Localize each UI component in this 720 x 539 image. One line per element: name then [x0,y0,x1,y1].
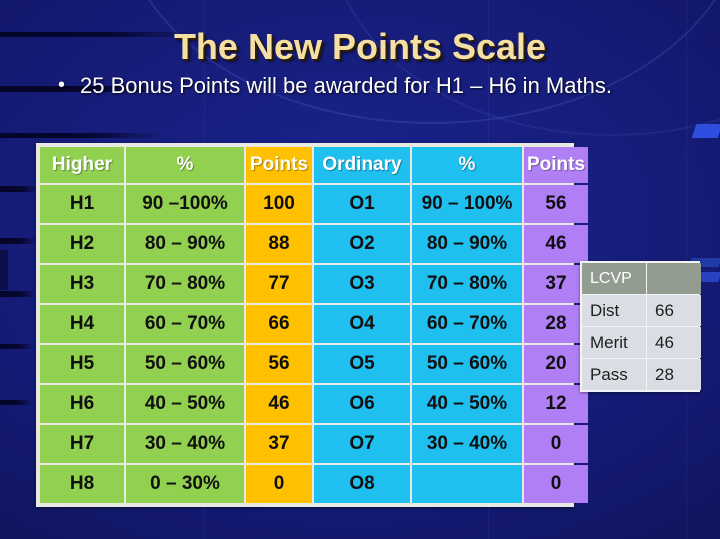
cell-higher-points: 66 [246,305,312,343]
col-header-higher-percent: % [126,147,244,183]
table-header-row: Higher % Points Ordinary % Points [40,147,588,183]
cell-higher-points: 77 [246,265,312,303]
lcvp-cell-label: Dist [582,295,646,326]
table-row: H6 40 – 50% 46 O6 40 – 50% 12 [40,385,588,423]
cell-higher-percent: 80 – 90% [126,225,244,263]
table-row: Dist 66 [582,295,701,326]
cell-ordinary-points: 20 [524,345,588,383]
lcvp-grid: LCVP Dist 66 Merit 46 Pass 28 [581,262,702,391]
cell-higher-grade: H3 [40,265,124,303]
lcvp-table: LCVP Dist 66 Merit 46 Pass 28 [580,261,700,392]
lcvp-cell-points: 28 [647,359,701,390]
cell-ordinary-percent: 50 – 60% [412,345,522,383]
cell-ordinary-percent: 90 – 100% [412,185,522,223]
cell-ordinary-points: 28 [524,305,588,343]
bullet-text: 25 Bonus Points will be awarded for H1 –… [80,71,678,100]
cell-ordinary-points: 37 [524,265,588,303]
cell-ordinary-grade: O6 [314,385,410,423]
cell-ordinary-percent: 60 – 70% [412,305,522,343]
slide-canvas: The New Points Scale • 25 Bonus Points w… [0,0,720,539]
cell-ordinary-points: 0 [524,465,588,503]
cell-ordinary-points: 56 [524,185,588,223]
cell-higher-points: 37 [246,425,312,463]
cell-ordinary-grade: O4 [314,305,410,343]
cell-higher-grade: H7 [40,425,124,463]
cell-higher-points: 88 [246,225,312,263]
cell-higher-percent: 90 –100% [126,185,244,223]
cell-higher-grade: H1 [40,185,124,223]
cell-ordinary-grade: O3 [314,265,410,303]
cell-ordinary-grade: O2 [314,225,410,263]
cell-higher-grade: H2 [40,225,124,263]
cell-ordinary-points: 0 [524,425,588,463]
cell-higher-percent: 30 – 40% [126,425,244,463]
cell-higher-points: 100 [246,185,312,223]
table-row: Pass 28 [582,359,701,390]
table-row: Merit 46 [582,327,701,358]
cell-higher-percent: 50 – 60% [126,345,244,383]
cell-ordinary-percent: 40 – 50% [412,385,522,423]
table-row: H4 60 – 70% 66 O4 60 – 70% 28 [40,305,588,343]
cell-ordinary-points: 46 [524,225,588,263]
decorative-streak [0,186,40,192]
lcvp-col-header-title: LCVP [582,263,646,294]
table-row: H8 0 – 30% 0 O8 0 [40,465,588,503]
lcvp-cell-label: Merit [582,327,646,358]
cell-ordinary-percent: 70 – 80% [412,265,522,303]
decorative-streak [0,291,36,297]
points-table: Higher % Points Ordinary % Points H1 90 … [36,143,574,507]
cell-higher-points: 46 [246,385,312,423]
decorative-streak [0,133,162,138]
cell-higher-grade: H8 [40,465,124,503]
cell-higher-grade: H6 [40,385,124,423]
bullet-list: • 25 Bonus Points will be awarded for H1… [58,71,678,100]
decorative-arc [330,0,720,136]
col-header-higher-points: Points [246,147,312,183]
bullet-dot-icon: • [58,71,80,100]
lcvp-cell-points: 46 [647,327,701,358]
cell-ordinary-points: 12 [524,385,588,423]
col-header-higher: Higher [40,147,124,183]
col-header-ordinary-percent: % [412,147,522,183]
lcvp-col-header-blank [647,263,701,294]
decorative-streak [0,400,32,405]
decorative-streak [0,344,34,349]
cell-higher-points: 0 [246,465,312,503]
col-header-ordinary-points: Points [524,147,588,183]
decorative-streak [0,238,38,244]
table-row: H5 50 – 60% 56 O5 50 – 60% 20 [40,345,588,383]
cell-ordinary-grade: O7 [314,425,410,463]
col-header-ordinary: Ordinary [314,147,410,183]
cell-ordinary-grade: O1 [314,185,410,223]
table-row: H1 90 –100% 100 O1 90 – 100% 56 [40,185,588,223]
lcvp-grid-body: Dist 66 Merit 46 Pass 28 [582,295,701,390]
cell-ordinary-grade: O5 [314,345,410,383]
cell-higher-points: 56 [246,345,312,383]
cell-higher-percent: 0 – 30% [126,465,244,503]
cell-ordinary-percent [412,465,522,503]
lcvp-cell-points: 66 [647,295,701,326]
cell-higher-percent: 60 – 70% [126,305,244,343]
table-row: H3 70 – 80% 77 O3 70 – 80% 37 [40,265,588,303]
points-grid-body: H1 90 –100% 100 O1 90 – 100% 56 H2 80 – … [40,185,588,503]
cell-higher-grade: H5 [40,345,124,383]
table-row: H7 30 – 40% 37 O7 30 – 40% 0 [40,425,588,463]
slide-title: The New Points Scale [0,26,720,68]
table-row: H2 80 – 90% 88 O2 80 – 90% 46 [40,225,588,263]
cell-ordinary-percent: 30 – 40% [412,425,522,463]
points-grid: Higher % Points Ordinary % Points H1 90 … [38,145,590,505]
cell-ordinary-grade: O8 [314,465,410,503]
cell-ordinary-percent: 80 – 90% [412,225,522,263]
decorative-chip [0,250,8,290]
decorative-chip [692,124,720,138]
cell-higher-percent: 40 – 50% [126,385,244,423]
lcvp-header-row: LCVP [582,263,701,294]
lcvp-cell-label: Pass [582,359,646,390]
cell-higher-percent: 70 – 80% [126,265,244,303]
list-item: • 25 Bonus Points will be awarded for H1… [58,71,678,100]
cell-higher-grade: H4 [40,305,124,343]
